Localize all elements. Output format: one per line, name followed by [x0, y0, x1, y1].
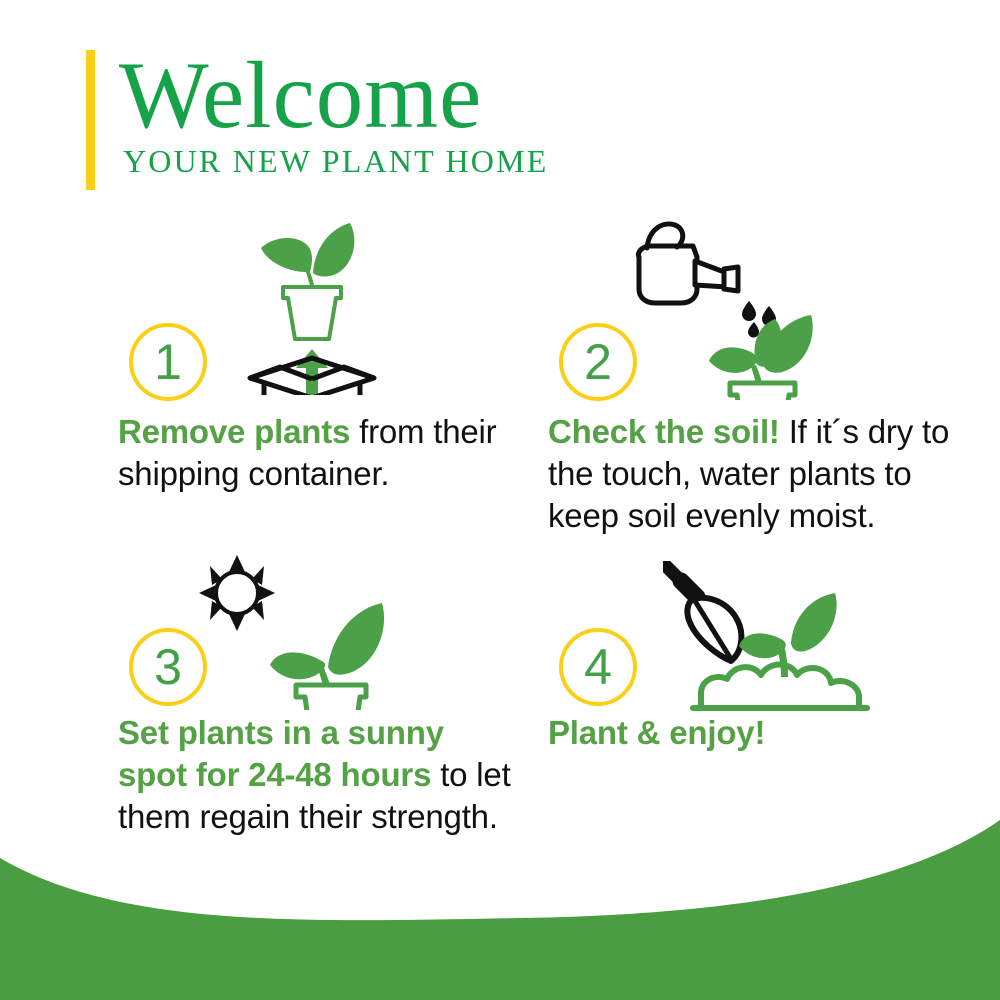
step-2-bold-text: Check the soil!	[548, 413, 780, 450]
sun-plant-icon	[190, 555, 405, 715]
step-number-3: 3	[154, 642, 182, 692]
step-number-badge-1: 1	[129, 323, 207, 401]
step-3-icon-row: 3	[118, 555, 518, 710]
plant-in-box-icon	[228, 215, 393, 400]
poster-canvas: Welcome YOUR NEW PLANT HOME 1	[0, 0, 1000, 1000]
step-item-2: 2	[548, 215, 968, 538]
step-number-badge-4: 4	[559, 628, 637, 706]
header-text-block: Welcome YOUR NEW PLANT HOME	[119, 50, 549, 190]
step-2-icon-row: 2	[548, 215, 968, 395]
step-number-2: 2	[584, 337, 612, 387]
step-1-text: Remove plants from their shipping contai…	[118, 411, 518, 495]
poster-header: Welcome YOUR NEW PLANT HOME	[86, 50, 549, 190]
step-number-4: 4	[584, 642, 612, 692]
step-1-icon-row: 1	[118, 215, 518, 395]
header-accent-bar	[86, 50, 95, 190]
step-4-bold-text: Plant & enjoy!	[548, 714, 765, 751]
step-item-1: 1	[118, 215, 518, 495]
step-4-icon-row: 4	[548, 555, 968, 710]
page-subtitle: YOUR NEW PLANT HOME	[123, 143, 549, 180]
step-4-text: Plant & enjoy!	[548, 712, 968, 754]
step-3-bold-text: Set plants in a sunny spot for 24-48 hou…	[118, 714, 444, 793]
page-title: Welcome	[119, 50, 549, 141]
footer-swoosh	[0, 820, 1000, 1000]
step-number-1: 1	[154, 337, 182, 387]
trowel-seedling-icon	[663, 561, 878, 716]
step-item-4: 4	[548, 555, 968, 754]
step-2-text: Check the soil! If it´s dry to the touch…	[548, 411, 968, 538]
step-item-3: 3	[118, 555, 518, 839]
watering-can-plant-icon	[623, 215, 823, 405]
step-1-bold-text: Remove plants	[118, 413, 350, 450]
